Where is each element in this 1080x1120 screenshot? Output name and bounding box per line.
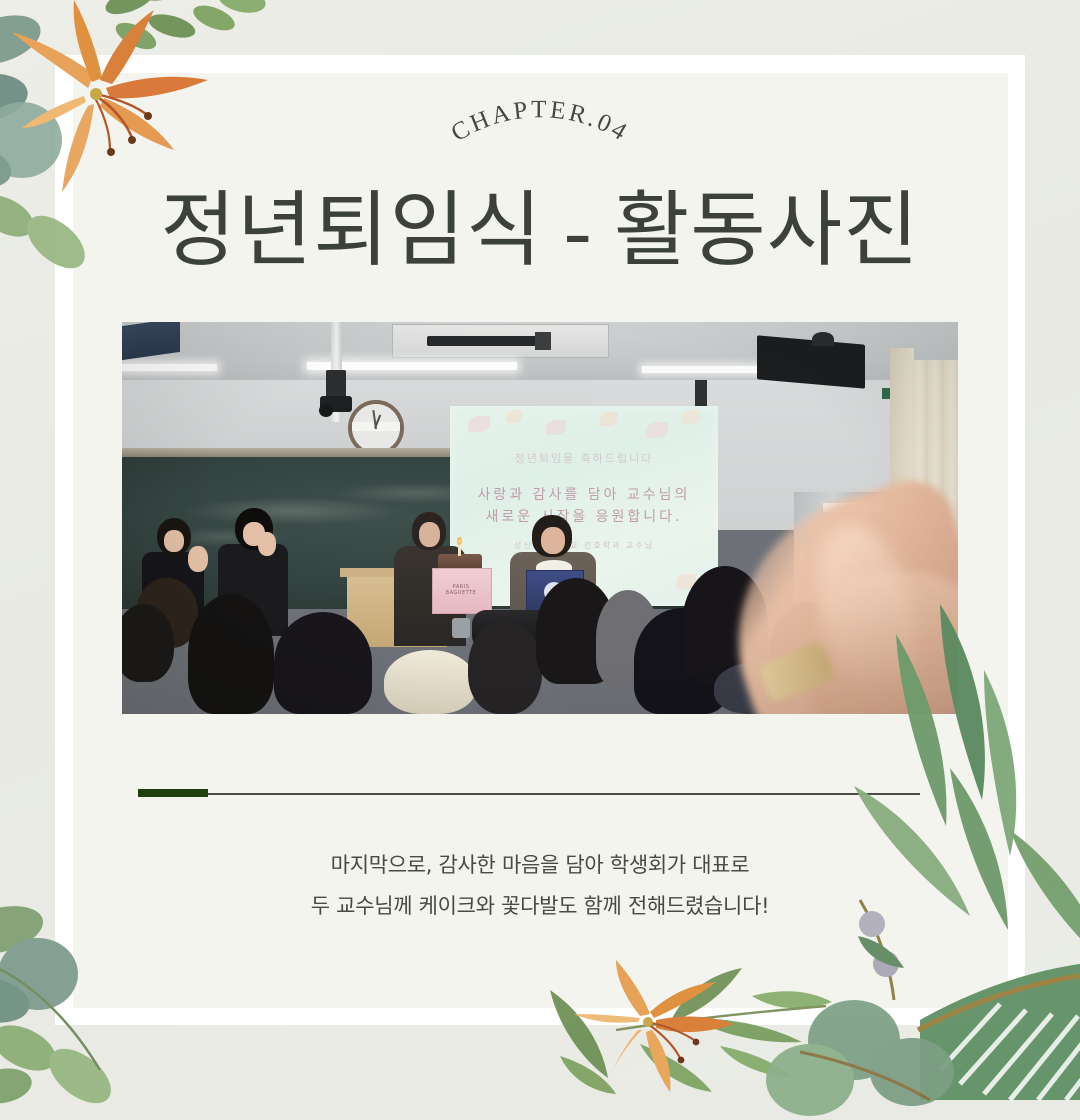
photo-ceiling-dome	[812, 332, 834, 346]
photo-audience-head-4	[274, 612, 372, 714]
activity-photo: 정년퇴임을 축하드립니다 사랑과 감사를 담아 교수님의 새로운 시작을 응원합…	[122, 322, 958, 714]
section-divider	[138, 793, 920, 795]
photo-audience-head-5	[468, 620, 542, 714]
photo-ceiling-speaker	[757, 335, 865, 388]
caption-line-2: 두 교수님께 케이크와 꽃다발도 함께 전해드렸습니다!	[0, 886, 1080, 927]
photo-cake-candle	[458, 544, 461, 556]
photo-student-left-2-hand	[258, 532, 276, 556]
photo-student-left-1-hand	[188, 546, 208, 572]
photo-projector-lens	[319, 404, 333, 417]
photo-ceiling-fixture	[427, 336, 537, 346]
photo-professor-2-face	[541, 527, 565, 554]
page-title: 정년퇴임식 - 활동사진	[0, 188, 1080, 274]
photo-fluorescent-light-1	[122, 364, 217, 371]
photo-slide-heading: 정년퇴임을 축하드립니다	[450, 450, 718, 466]
caption-line-1: 마지막으로, 감사한 마음을 담아 학생회가 대표로	[0, 845, 1080, 886]
photo-slide-subline: 성신여자대학교 간호학과 교수님	[450, 540, 718, 551]
photo-professor-1-face	[419, 522, 440, 547]
photo-slide-line-1: 사랑과 감사를 담아 교수님의	[450, 484, 718, 504]
photo-candle-flame	[457, 537, 462, 545]
photo-ceiling-fixture-2	[535, 332, 551, 350]
section-divider-accent	[138, 789, 208, 797]
photo-audience-head-3	[188, 594, 274, 714]
photo-cake-box-label: PARIS BAGUETTE	[440, 584, 482, 596]
caption-block: 마지막으로, 감사한 마음을 담아 학생회가 대표로 두 교수님께 케이크와 꽃…	[0, 845, 1080, 927]
photo-projector-mount	[326, 370, 346, 398]
photo-student-left-1-face	[164, 530, 184, 552]
photo-slide-line-2: 새로운 시작을 응원합니다.	[450, 506, 718, 526]
photo-audience-cap-beige	[384, 650, 476, 714]
photo-cup	[452, 618, 470, 638]
